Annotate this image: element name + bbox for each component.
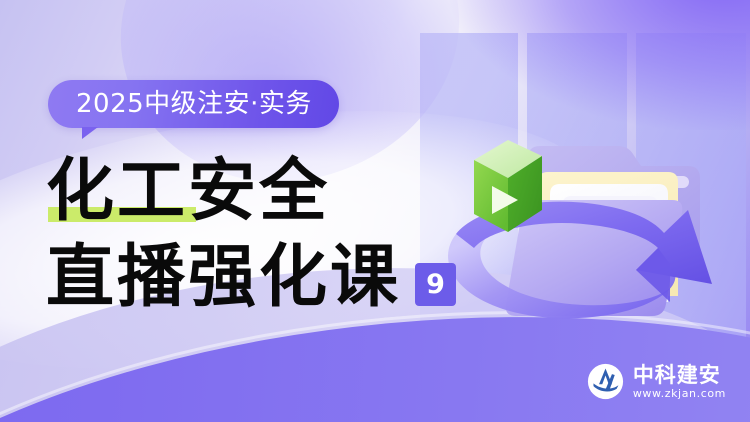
headline-block: 化工安全 直播强化课 9 — [46, 158, 466, 312]
zkjan-circle-logo-icon — [587, 363, 624, 400]
episode-number-badge: 9 — [415, 263, 456, 306]
course-tag-label: 2025中级注安·实务 — [76, 91, 312, 117]
course-promo-banner: 2025中级注安·实务 化工安全 直播强化课 9 中科建安 www.zkjan.… — [0, 0, 750, 422]
headline-row-1: 化工安全 — [46, 158, 466, 226]
headline-line-2: 直播强化课 — [46, 244, 401, 312]
headline-line-1: 化工安全 — [46, 158, 330, 226]
brand-logo: 中科建安 www.zkjan.com — [587, 363, 726, 400]
headline-row-2: 直播强化课 9 — [46, 244, 466, 312]
brand-logo-texts: 中科建安 www.zkjan.com — [633, 364, 726, 399]
course-tag: 2025中级注安·实务 — [48, 80, 339, 128]
course-tag-tail — [82, 127, 98, 139]
course-tag-pill: 2025中级注安·实务 — [48, 80, 339, 128]
brand-url: www.zkjan.com — [633, 388, 726, 399]
brand-name: 中科建安 — [633, 364, 726, 386]
